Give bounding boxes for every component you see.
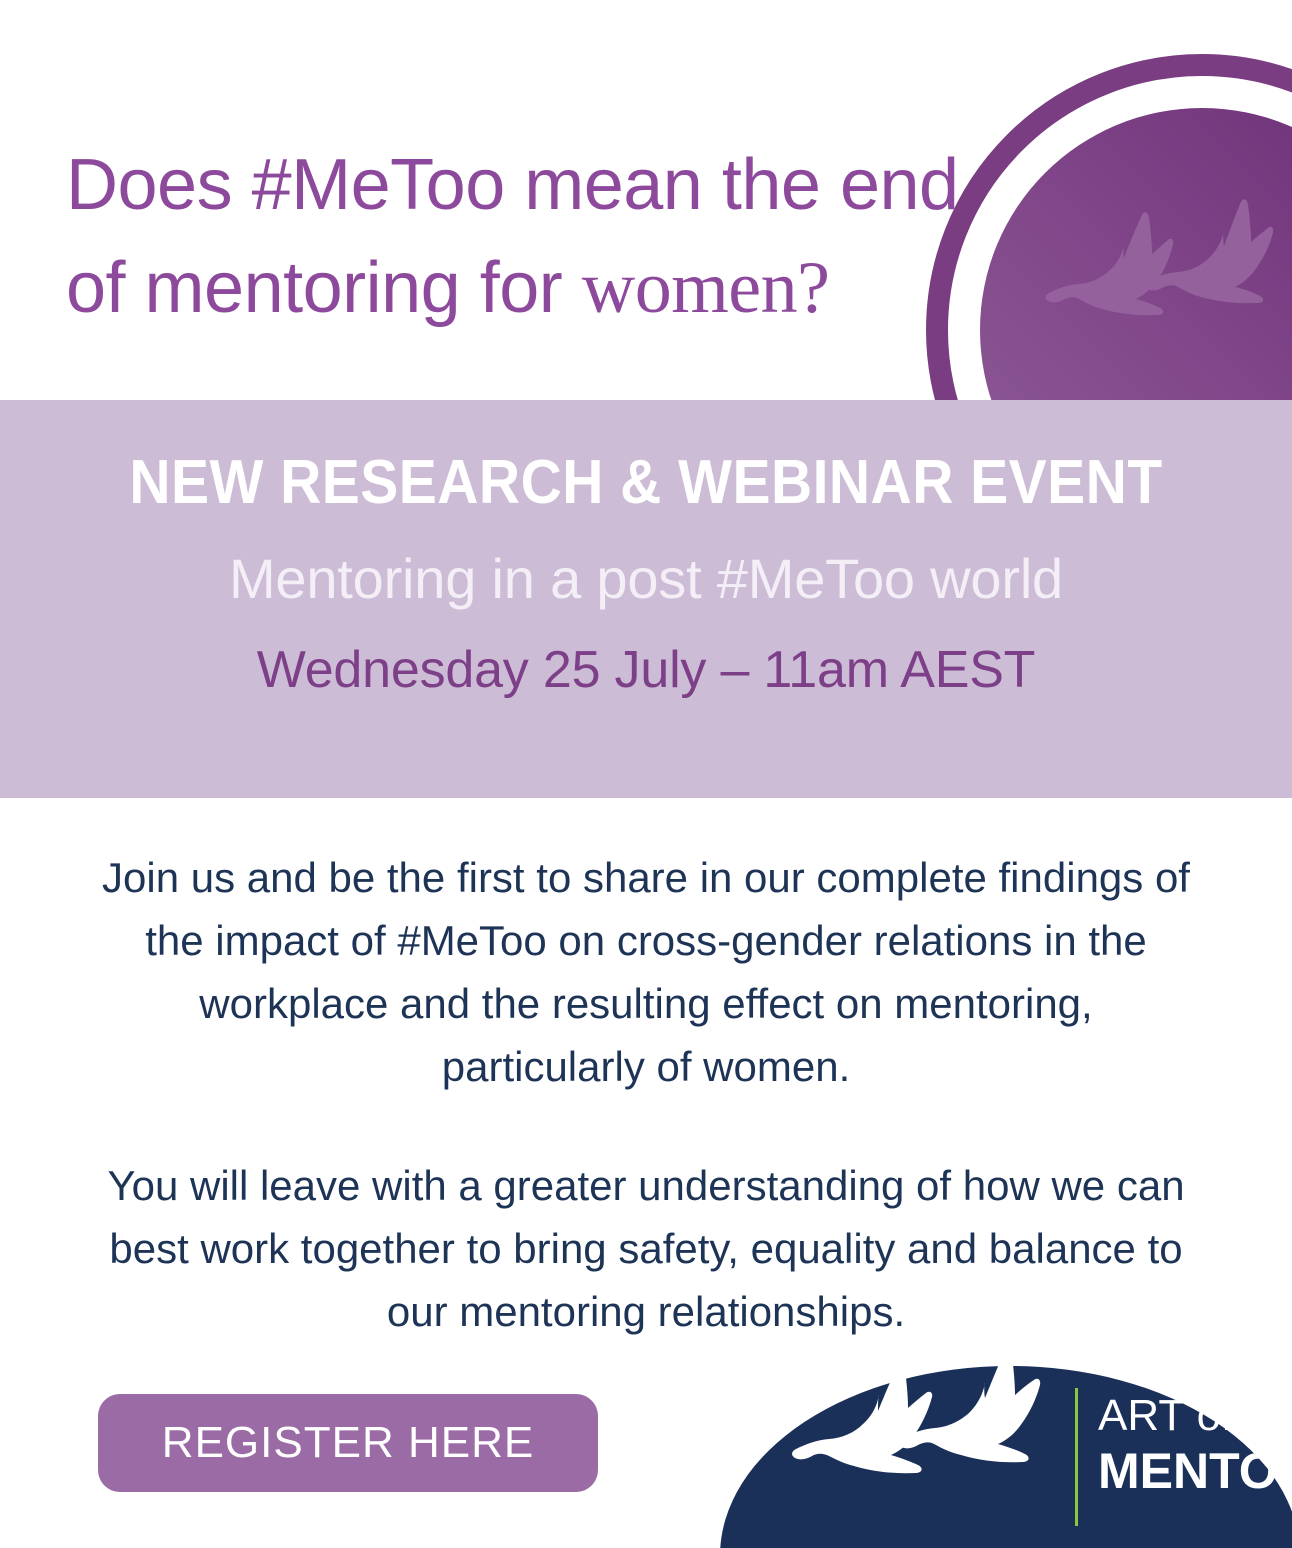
- logo-line-2: MENTORING: [1098, 1443, 1292, 1499]
- headline-line-2-prefix: of mentoring for: [66, 248, 582, 328]
- body-copy: Join us and be the first to share in our…: [96, 846, 1196, 1343]
- body-paragraph-2: You will leave with a greater understand…: [96, 1154, 1196, 1343]
- art-of-mentoring-logo: ART of MENTORING: [680, 1366, 1292, 1548]
- headline-line-1: Does #MeToo mean the end: [66, 134, 1046, 236]
- logo-line-1: ART of: [1098, 1391, 1234, 1440]
- geese-silhouette-icon: [1045, 199, 1273, 315]
- divider-line: [1075, 1388, 1078, 1526]
- event-banner: NEW RESEARCH & WEBINAR EVENT Mentoring i…: [0, 400, 1292, 798]
- register-here-button[interactable]: REGISTER HERE: [98, 1394, 598, 1492]
- headline-line-2: of mentoring for women?: [66, 236, 1046, 341]
- page-title: Does #MeToo mean the end of mentoring fo…: [66, 134, 1046, 341]
- headline-emphasis-word: women?: [582, 247, 830, 329]
- email-flyer: Does #MeToo mean the end of mentoring fo…: [0, 0, 1292, 1548]
- event-banner-content: NEW RESEARCH & WEBINAR EVENT Mentoring i…: [0, 400, 1292, 697]
- body-paragraph-1: Join us and be the first to share in our…: [96, 846, 1196, 1098]
- event-date-time: Wednesday 25 July – 11am AEST: [0, 643, 1292, 698]
- event-subtitle: Mentoring in a post #MeToo world: [0, 550, 1292, 609]
- event-kicker: NEW RESEARCH & WEBINAR EVENT: [52, 452, 1241, 514]
